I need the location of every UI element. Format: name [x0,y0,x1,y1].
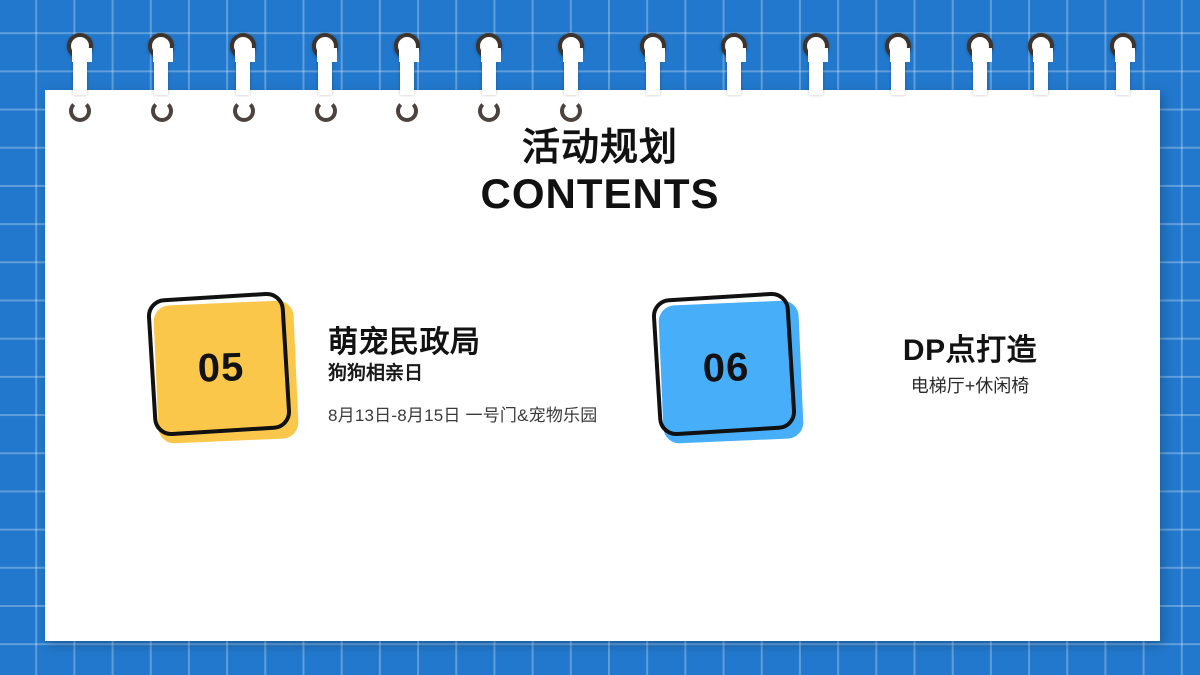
content-item-05[interactable]: 05 萌宠民政局 狗狗相亲日 8月13日-8月15日 一号门&宠物乐园 [150,295,650,465]
ring-cap [230,33,256,59]
ring-cap [885,33,911,59]
ring-stem [646,39,660,95]
binder-ring-icon [1028,33,1054,95]
binder-ring-icon [67,33,93,95]
binder-ring-icon [394,33,420,95]
ring-cap [476,33,502,59]
ring-cap [1110,33,1136,59]
ring-stem [73,39,87,95]
ring-cap [148,33,174,59]
item-subtitle: 电梯厅+休闲椅 [865,373,1075,399]
item-title: DP点打造 [865,333,1075,369]
ring-stem [564,39,578,95]
ring-cap [967,33,993,59]
binder-ring-icon [721,33,747,95]
ring-stem [1116,39,1130,95]
page-title: 活动规划 CONTENTS [0,126,1200,218]
binder-ring-icon [148,33,174,95]
ring-cap [721,33,747,59]
ring-stem [727,39,741,95]
ring-stem [1034,39,1048,95]
ring-cap [312,33,338,59]
item-subtitle: 狗狗相亲日 [328,361,648,387]
item-title: 萌宠民政局 [328,325,648,361]
item-number: 06 [652,293,799,444]
binder-ring-icon [885,33,911,95]
binder-ring-icon [230,33,256,95]
ring-stem [154,39,168,95]
ring-cap [640,33,666,59]
item-text-group: DP点打造 电梯厅+休闲椅 [865,295,1075,399]
item-number: 05 [147,293,294,444]
binder-ring-icon [640,33,666,95]
binder-ring-icon [558,33,584,95]
ring-cap [67,33,93,59]
binder-ring-icon [967,33,993,95]
item-text-group: 萌宠民政局 狗狗相亲日 8月13日-8月15日 一号门&宠物乐园 [328,295,648,428]
ring-stem [809,39,823,95]
slide-canvas: 活动规划 CONTENTS 05 萌宠民政局 狗狗相亲日 8月13日-8月15日… [0,0,1200,675]
item-number-badge: 06 [655,295,803,443]
item-detail: 8月13日-8月15日 一号门&宠物乐园 [328,404,648,428]
title-english: CONTENTS [0,170,1200,218]
ring-stem [400,39,414,95]
ring-cap [803,33,829,59]
binder-ring-icon [312,33,338,95]
ring-stem [891,39,905,95]
ring-cap [558,33,584,59]
title-chinese: 活动规划 [0,126,1200,170]
ring-stem [236,39,250,95]
ring-cap [394,33,420,59]
binder-ring-icon [803,33,829,95]
binder-ring-icon [476,33,502,95]
ring-stem [318,39,332,95]
item-number-badge: 05 [150,295,298,443]
ring-stem [973,39,987,95]
ring-stem [482,39,496,95]
content-item-06[interactable]: 06 DP点打造 电梯厅+休闲椅 [655,295,1075,465]
ring-cap [1028,33,1054,59]
binder-ring-icon [1110,33,1136,95]
